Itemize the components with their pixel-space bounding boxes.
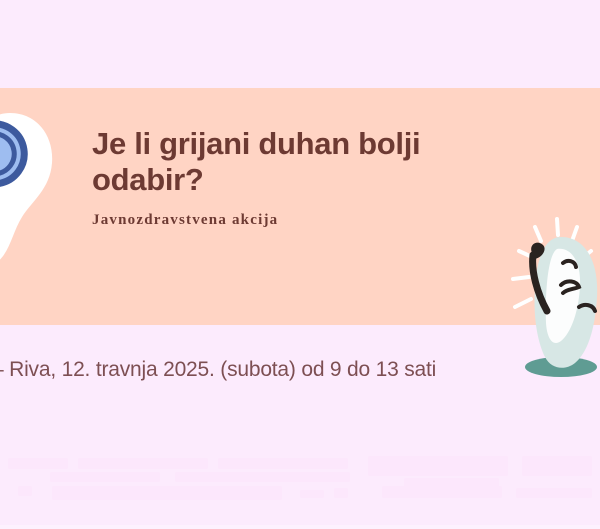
ghost-block bbox=[18, 486, 32, 496]
ghost-block bbox=[218, 458, 348, 469]
ghost-block bbox=[300, 490, 324, 498]
banner-subheadline: Javnozdravstvena akcija bbox=[92, 212, 522, 229]
ghost-block bbox=[52, 486, 282, 500]
bottom-strip bbox=[0, 525, 600, 529]
ghost-block bbox=[175, 472, 350, 482]
ghost-block bbox=[334, 488, 348, 498]
ghost-block bbox=[8, 458, 68, 469]
page-content-placeholder bbox=[0, 436, 600, 529]
campaign-banner[interactable]: Je li grijani duhan bolji odabir? Javnoz… bbox=[0, 0, 600, 436]
magnifying-glass-icon bbox=[0, 105, 62, 275]
ghost-block bbox=[516, 488, 592, 498]
banner-headline: Je li grijani duhan bolji odabir? bbox=[92, 126, 522, 198]
ghost-block bbox=[50, 472, 160, 482]
banner-text-block: Je li grijani duhan bolji odabir? Javnoz… bbox=[92, 126, 522, 229]
ghost-block bbox=[522, 456, 592, 476]
ghost-block bbox=[382, 486, 502, 498]
event-details-line: – Riva, 12. travnja 2025. (subota) od 9 … bbox=[0, 358, 552, 382]
ghost-block bbox=[368, 456, 508, 476]
banner-top-background bbox=[0, 0, 600, 88]
page-root: Je li grijani duhan bolji odabir? Javnoz… bbox=[0, 0, 600, 529]
ghost-block bbox=[78, 458, 208, 469]
